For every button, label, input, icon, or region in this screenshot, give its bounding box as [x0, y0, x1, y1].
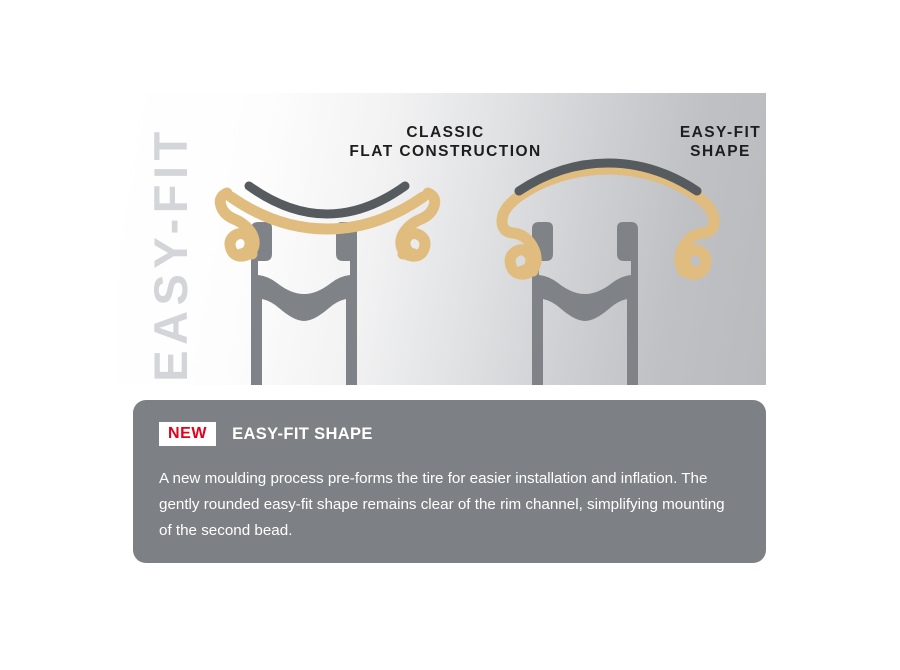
diagram-classic-flat-construction: [205, 171, 450, 385]
card-title: EASY-FIT SHAPE: [232, 425, 373, 444]
vertical-wordmark: EASY-FIT: [143, 109, 199, 385]
illustration-panel: EASY-FIT CLASSIC FLAT CONSTRUCTION EASY-…: [118, 93, 766, 385]
rim-shape-easyfit: [532, 222, 638, 385]
rim-shape-classic: [251, 222, 357, 385]
tread-classic: [249, 186, 405, 214]
new-badge: NEW: [159, 422, 216, 446]
diagram-easyfit-shape: [486, 155, 731, 385]
info-card: NEW EASY-FIT SHAPE A new moulding proces…: [133, 400, 766, 563]
easy-fit-infographic: EASY-FIT CLASSIC FLAT CONSTRUCTION EASY-…: [0, 0, 900, 670]
card-header-row: NEW EASY-FIT SHAPE: [159, 422, 740, 446]
card-body-text: A new moulding process pre-forms the tir…: [159, 466, 731, 544]
